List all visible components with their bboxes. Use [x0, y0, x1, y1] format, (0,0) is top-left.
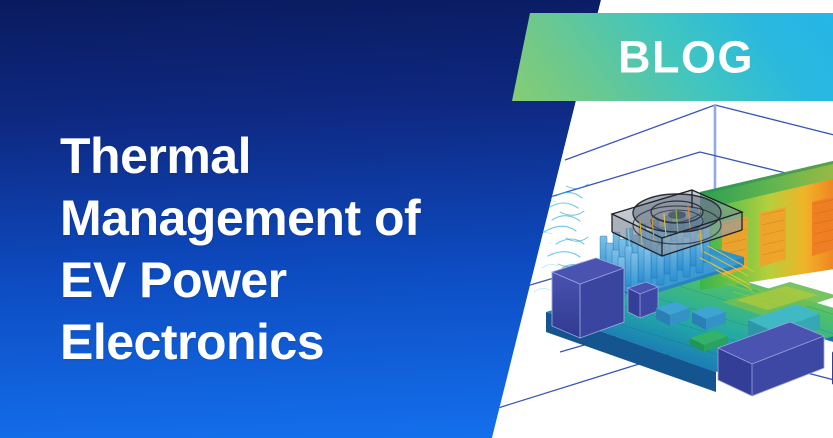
page-title: Thermal Management of EV Power Electroni…: [60, 125, 420, 373]
blog-tag-label: BLOG: [618, 35, 754, 80]
blog-hero-banner: Thermal Management of EV Power Electroni…: [0, 0, 833, 438]
blog-tag: BLOG: [500, 13, 833, 101]
